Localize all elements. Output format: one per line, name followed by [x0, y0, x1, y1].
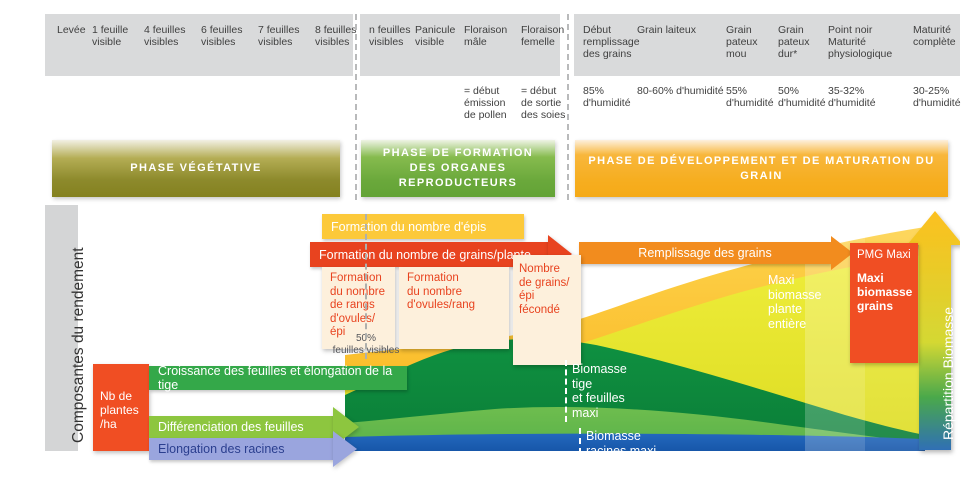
marker-dashed-biomasse-tige — [565, 360, 567, 422]
annotation-biomasse-tige: Biomasse tige et feuilles maxi — [572, 362, 652, 420]
box-grains-epi-text: Nombre de grains/ épi fécondé — [519, 263, 581, 317]
header-cell: 6 feuilles visibles — [201, 24, 259, 48]
header-cell: 7 feuilles visibles — [258, 24, 316, 48]
header-subnote: 35-32% d'humidité — [828, 85, 888, 109]
header-cell-ellipsis: … — [326, 24, 346, 36]
bar-formation-epis: Formation du nombre d'épis — [322, 214, 524, 239]
box-pmg-maxi-body: Maxi biomasse grains — [857, 271, 919, 313]
bar-label: Elongation des racines — [149, 442, 284, 456]
phase-bar-reproductive: PHASE DE FORMATION DES ORGANES REPRODUCT… — [361, 140, 555, 197]
header-cell: n feuilles visibles — [369, 24, 421, 48]
bar-label: Croissance des feuilles et élongation de… — [149, 364, 407, 392]
phase-label: PHASE VÉGÉTATIVE — [130, 161, 261, 176]
bar-label: Formation du nombre d'épis — [322, 220, 486, 234]
header-subnote: = début émission de pollen — [464, 85, 520, 121]
header-cell: Point noir Maturité physiologique — [828, 24, 914, 60]
right-axis-title: Répartition Biomasse — [940, 307, 956, 440]
header-cell: 1 feuille visible — [92, 24, 144, 48]
yield-components-panel: Composantes du rendement — [45, 205, 960, 487]
header-cell: Grain pateux dur* — [778, 24, 828, 60]
header-subnote: 55% d'humidité — [726, 85, 780, 109]
header-subnote: 50% d'humidité — [778, 85, 832, 109]
header-cell: 4 feuilles visibles — [144, 24, 202, 48]
separator-dashed-1 — [355, 14, 357, 200]
bar-label: Remplissage des grains — [638, 246, 771, 260]
annotation-maxi-biomasse-plante: Maxi biomasse plante entière — [768, 273, 842, 331]
marker-dashed-50-feuilles — [365, 214, 367, 359]
box-nb-plantes-text: Nb de plantes /ha — [100, 389, 152, 431]
phase-bar-vegetative: PHASE VÉGÉTATIVE — [52, 140, 340, 197]
bar-label: Formation du nombre de grains/plante — [310, 248, 531, 262]
bar-remplissage-grains: Remplissage des grains — [579, 242, 831, 264]
bar-elongation-racines: Elongation des racines — [149, 438, 333, 460]
header-cell: Panicule visible — [415, 24, 467, 48]
header-cell: Grain pateux mou — [726, 24, 776, 60]
phase-bar-grain: PHASE DE DÉVELOPPEMENT ET DE MATURATION … — [575, 140, 948, 197]
growth-stage-diagram: Levée 1 feuille visible 4 feuilles visib… — [0, 0, 980, 499]
bar-differenciation-feuilles: Différenciation des feuilles — [149, 416, 333, 438]
box-rangs-ovules-text: Formation du nombre de rangs d'ovules/ é… — [330, 272, 394, 340]
box-ovules-rang-text: Formation du nombre d'ovules/rang — [407, 272, 507, 313]
header-cell: Grain laiteux — [637, 24, 729, 36]
header-cell: Floraison mâle — [464, 24, 519, 48]
bar-label: Différenciation des feuilles — [149, 420, 304, 434]
annotation-biomasse-racines: Biomasse racines maxi — [586, 429, 716, 458]
phase-label: PHASE DE FORMATION DES ORGANES REPRODUCT… — [361, 146, 555, 191]
bar-croissance-feuilles: Croissance des feuilles et élongation de… — [149, 366, 407, 390]
arrowhead-elongation — [333, 431, 357, 467]
header-subnote: 30-25% d'humidité — [913, 85, 973, 109]
phase-label: PHASE DE DÉVELOPPEMENT ET DE MATURATION … — [575, 154, 948, 184]
header-cell: Maturité complète — [913, 24, 973, 48]
marker-dashed-biomasse-racines — [579, 428, 581, 454]
box-pmg-maxi-title: PMG Maxi — [857, 249, 921, 263]
separator-dashed-2 — [567, 14, 569, 200]
